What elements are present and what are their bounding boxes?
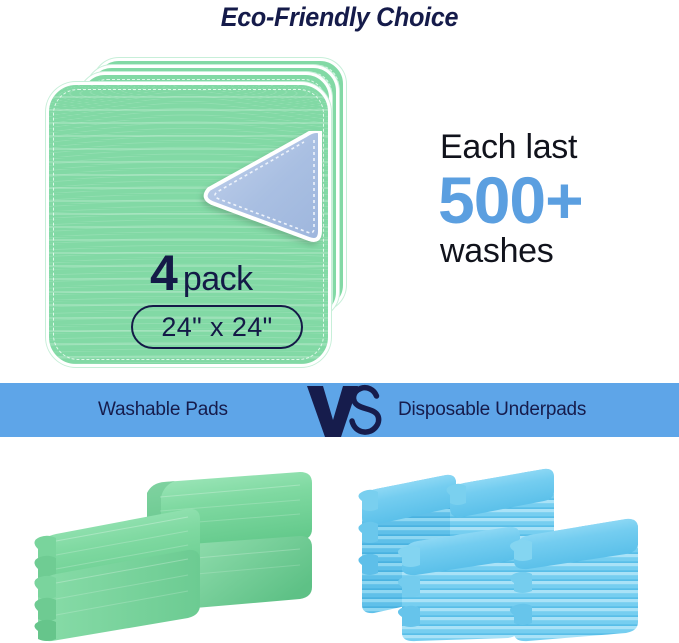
underpad-stack-front-right (510, 519, 638, 641)
wash-claim-block: Each last 500+ washes (440, 130, 670, 270)
wash-claim-line3: washes (440, 234, 670, 270)
page-title: Eco-Friendly Choice (24, 2, 655, 33)
vs-icon (305, 379, 385, 441)
pack-count-word: pack (183, 262, 253, 296)
comparison-bar: Washable Pads Disposable Underpads (0, 383, 679, 437)
washable-pad-stack-image: 4 pack 24" x 24" (46, 56, 346, 356)
pad-size-badge: 24" x 24" (131, 305, 303, 349)
pack-count-label: 4 pack (150, 248, 253, 298)
comparison-label-right: Disposable Underpads (398, 399, 586, 421)
washable-pads-photo (0, 437, 340, 643)
pack-count-number: 4 (150, 248, 177, 298)
wash-claim-highlight: 500+ (438, 168, 670, 233)
comparison-label-left: Washable Pads (98, 399, 228, 421)
wash-claim-line1: Each last (440, 130, 670, 166)
disposable-underpads-photo (340, 437, 679, 643)
underpad-stack-front-left (398, 527, 520, 641)
